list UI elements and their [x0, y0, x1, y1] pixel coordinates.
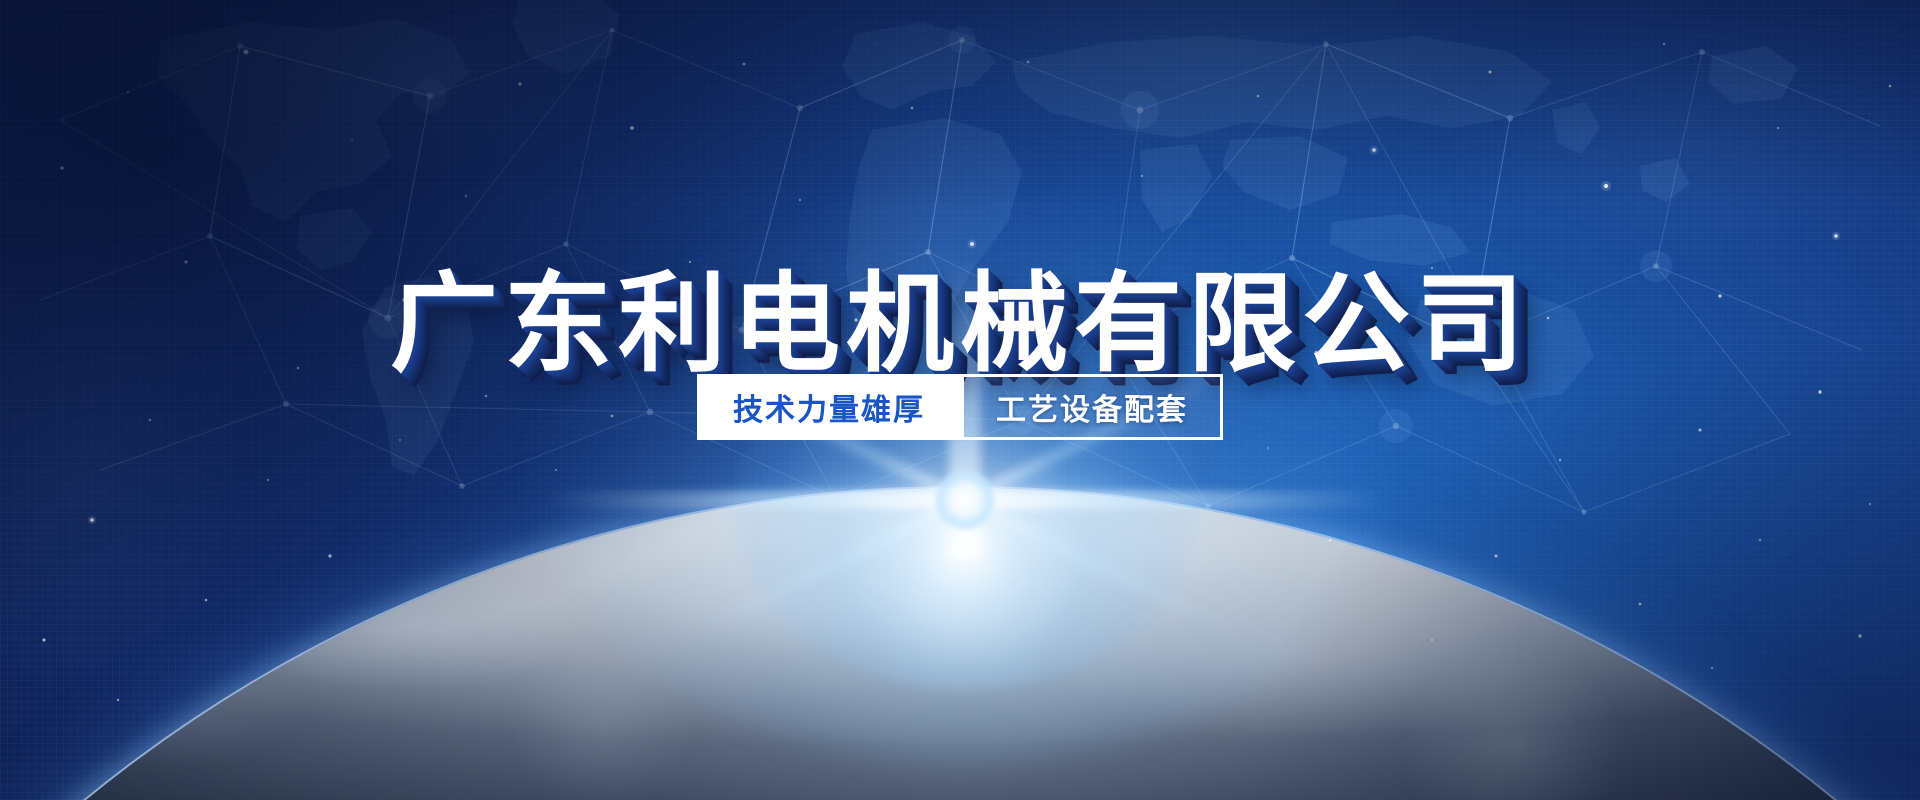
hero-banner: 广东利电机械有限公司 技术力量雄厚 工艺设备配套	[0, 0, 1920, 800]
tagline-row: 技术力量雄厚 工艺设备配套	[0, 374, 1920, 440]
banner-content: 广东利电机械有限公司 技术力量雄厚 工艺设备配套	[0, 0, 1920, 800]
tagline-group: 技术力量雄厚 工艺设备配套	[697, 374, 1223, 440]
company-title: 广东利电机械有限公司	[390, 270, 1530, 378]
tagline-outline: 工艺设备配套	[961, 374, 1223, 440]
tagline-solid: 技术力量雄厚	[697, 374, 961, 440]
